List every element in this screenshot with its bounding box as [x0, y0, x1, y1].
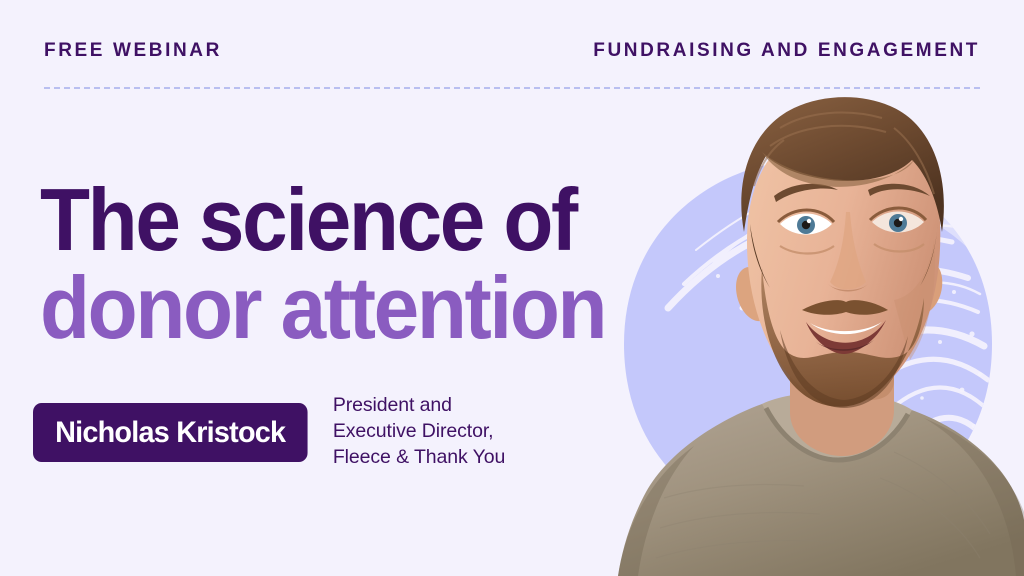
page-title: The science of donor attention [40, 176, 700, 352]
speaker-role-line-2: Executive Director, [333, 418, 505, 444]
speaker-role-line-1: President and [333, 392, 505, 418]
header-dashed-divider [44, 87, 980, 89]
head [736, 97, 944, 408]
headline-line-2: donor attention [40, 264, 654, 352]
webinar-promo-slide: FREE WEBINAR FUNDRAISING AND ENGAGEMENT … [0, 0, 1024, 576]
speaker-name-badge: Nicholas Kristock [33, 403, 307, 462]
eyebrow-free-webinar: FREE WEBINAR [44, 40, 222, 62]
speaker-role: President and Executive Director, Fleece… [333, 392, 505, 470]
speaker-role-line-3: Fleece & Thank You [333, 444, 505, 470]
header-eyebrow-row: FREE WEBINAR FUNDRAISING AND ENGAGEMENT [44, 40, 980, 62]
headline-line-1: The science of [40, 176, 654, 264]
eyebrow-topic: FUNDRAISING AND ENGAGEMENT [593, 40, 980, 62]
speaker-block: Nicholas Kristock President and Executiv… [33, 392, 505, 470]
